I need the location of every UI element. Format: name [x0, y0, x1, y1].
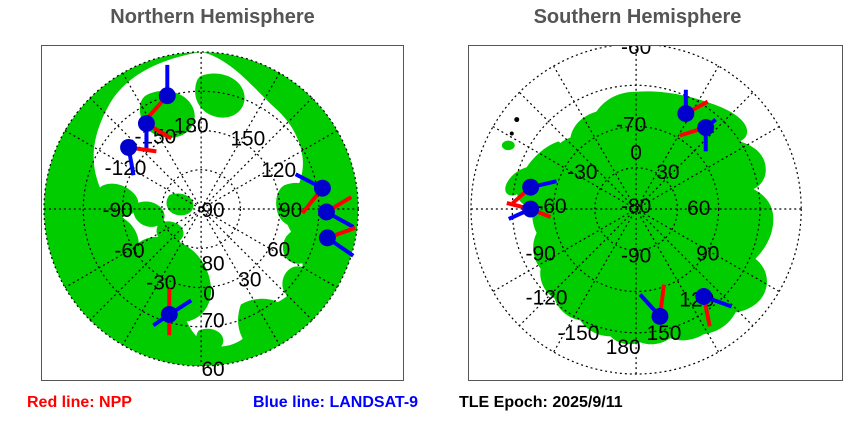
lon-label-90: 90	[279, 199, 302, 222]
southern-hemisphere-title: Southern Hemisphere	[425, 6, 850, 29]
lon-label-0: 0	[203, 282, 215, 305]
southern-polar-map: -60 -70 0 -80 30 60 90 120 150 180 -150 …	[469, 46, 842, 380]
lat-label-60: 60	[201, 358, 224, 380]
lon-label-m120: -120	[526, 286, 568, 309]
lon-label-60: 60	[267, 239, 290, 262]
lon-label-0: 0	[630, 141, 642, 164]
southern-hemisphere-panel: Southern Hemisphere	[425, 0, 850, 390]
lat-label-80: 80	[201, 253, 224, 276]
lon-label-m90: -90	[102, 199, 132, 222]
legend-red-line-npp: Red line: NPP	[27, 394, 132, 412]
legend: Red line: NPP Blue line: LANDSAT-9 TLE E…	[0, 392, 850, 420]
lat-label-70: 70	[201, 309, 224, 332]
lon-label-m90: -90	[526, 243, 556, 266]
lon-label-m60: -60	[114, 240, 144, 263]
lon-label-90: 90	[696, 243, 719, 266]
southern-hemisphere-plot[interactable]: -60 -70 0 -80 30 60 90 120 150 180 -150 …	[468, 45, 843, 381]
lon-label-60: 60	[687, 197, 710, 220]
lon-label-m30: -30	[146, 272, 176, 295]
lon-label-150: 150	[647, 322, 682, 345]
lat-label-m70: -70	[616, 113, 646, 136]
northern-hemisphere-panel: Northern Hemisphere	[0, 0, 425, 390]
lon-label-30: 30	[238, 269, 261, 292]
legend-blue-line-landsat: Blue line: LANDSAT-9	[253, 394, 418, 412]
lon-label-m120: -120	[105, 157, 147, 180]
lon-label-m150: -150	[558, 322, 600, 345]
northern-hemisphere-plot[interactable]: 180 150 120 90 60 30 0 -30 -60 -90 -120 …	[41, 45, 404, 381]
lat-label-m90: -90	[621, 245, 651, 268]
legend-tle-epoch: TLE Epoch: 2025/9/11	[459, 394, 623, 412]
lon-label-180: 180	[606, 336, 641, 359]
northern-polar-map: 180 150 120 90 60 30 0 -30 -60 -90 -120 …	[42, 46, 403, 380]
lon-label-m60-top: -60	[621, 46, 651, 59]
lon-label-120: 120	[261, 159, 296, 182]
lon-label-m30: -30	[567, 161, 597, 184]
lon-label-30: 30	[656, 161, 679, 184]
lat-label-m80: -80	[621, 195, 651, 218]
lon-label-180: 180	[174, 114, 209, 137]
lat-label-90: 90	[201, 199, 224, 222]
northern-hemisphere-title: Northern Hemisphere	[0, 6, 425, 29]
lon-label-150: 150	[230, 127, 265, 150]
